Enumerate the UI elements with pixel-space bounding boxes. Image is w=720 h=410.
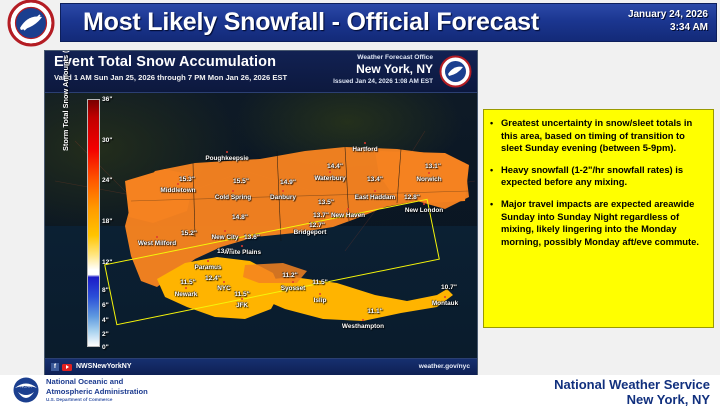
city-label: West Milford xyxy=(138,240,176,247)
city-label: Westhampton xyxy=(342,323,384,330)
key-message-item: •Major travel impacts are expected areaw… xyxy=(490,198,706,248)
colorbar-axis-label: Storm Total Snow Amounts (in) xyxy=(61,50,70,151)
colorbar-tick: 36" xyxy=(102,96,112,103)
noaa-line-1: National Oceanic and xyxy=(46,377,148,387)
snowfall-value-label: 11.2" xyxy=(282,272,298,279)
nws-office-footer: National Weather Service New York, NY xyxy=(554,377,710,407)
colorbar-tick: 2" xyxy=(102,331,109,338)
city-label: Syosset xyxy=(281,285,306,292)
nws-seal-icon xyxy=(2,0,60,47)
nws-seal-icon xyxy=(439,55,472,88)
city-label: JFK xyxy=(236,302,248,309)
snowfall-value-label: 15.2" xyxy=(181,230,197,237)
snowfall-value-label: 11.5" xyxy=(234,291,250,298)
colorbar-legend: Storm Total Snow Amounts (in) 36" 30" 24… xyxy=(65,99,111,347)
city-label: Hartford xyxy=(352,146,377,153)
map-wfo-label: Weather Forecast Office xyxy=(357,54,433,61)
city-label: Newark xyxy=(175,291,198,298)
snowfall-value-label: 10.7" xyxy=(441,284,457,291)
colorbar-tick: 4" xyxy=(102,317,109,324)
snowfall-value-label: 11.5" xyxy=(180,279,196,286)
snowfall-value-label: 12.7" xyxy=(309,222,325,229)
colorbar-tick: 6" xyxy=(102,302,109,309)
header-bar: Most Likely Snowfall - Official Forecast… xyxy=(60,3,717,42)
city-label: Bridgeport xyxy=(294,229,327,236)
city-label: Montauk xyxy=(432,300,458,307)
noaa-agency-name: National Oceanic and Atmospheric Adminis… xyxy=(46,377,148,396)
snowfall-value-label: 13.1" xyxy=(425,163,441,170)
snowfall-value-label: 11.5" xyxy=(312,279,328,286)
colorbar-tick: 0" xyxy=(102,344,109,351)
snowfall-value-label: 15.5" xyxy=(233,178,249,185)
map-issued-time: Issued Jan 24, 2026 1:08 AM EST xyxy=(333,78,433,85)
snowfall-value-label: 13.6" xyxy=(244,234,260,241)
forecast-graphic: Most Likely Snowfall - Official Forecast… xyxy=(0,0,720,407)
city-label: Paramus xyxy=(195,264,222,271)
snowfall-value-label: 14.8" xyxy=(232,214,248,221)
snowfall-value-label: 15.3" xyxy=(179,176,195,183)
nws-footer-line-2: New York, NY xyxy=(554,392,710,407)
city-label: Cold Spring xyxy=(215,194,251,201)
page-footer: NOAA National Oceanic and Atmospheric Ad… xyxy=(0,375,720,407)
snowfall-value-label: 13.4" xyxy=(367,176,383,183)
noaa-department: U.S. Department of Commerce xyxy=(46,397,112,402)
city-label: NYC xyxy=(217,285,231,292)
facebook-icon[interactable]: f xyxy=(51,363,59,371)
snowfall-value-label: 14.4" xyxy=(327,163,343,170)
colorbar-gradient xyxy=(87,99,100,347)
city-label: Poughkeepsie xyxy=(205,155,248,162)
key-message-text: Greatest uncertainty in snow/sleet total… xyxy=(501,117,706,155)
header-time: 3:34 AM xyxy=(628,21,708,34)
map-office-name: New York, NY xyxy=(356,62,433,76)
city-label: Middletown xyxy=(160,187,195,194)
snowfall-value-label: 14.9" xyxy=(280,179,296,186)
nws-footer-line-1: National Weather Service xyxy=(554,377,710,392)
snowfall-value-label: 11.1" xyxy=(367,308,383,315)
header-timestamp: January 24, 2026 3:34 AM xyxy=(628,8,708,34)
key-message-text: Major travel impacts are expected areawi… xyxy=(501,198,706,248)
bullet-marker-icon: • xyxy=(490,117,501,155)
noaa-logo-icon: NOAA xyxy=(12,377,40,405)
snowfall-value-label: 12.4" xyxy=(205,275,221,282)
social-handle[interactable]: NWSNewYorkNY xyxy=(76,363,132,370)
youtube-icon[interactable] xyxy=(62,364,72,371)
map-banner: Event Total Snow Accumulation Valid 1 AM… xyxy=(45,51,477,93)
colorbar-tick: 8" xyxy=(102,287,109,294)
snowfall-value-label: 13.5" xyxy=(318,199,334,206)
city-label: Danbury xyxy=(270,194,296,201)
key-message-item: •Greatest uncertainty in snow/sleet tota… xyxy=(490,117,706,155)
map-footer-bar: f NWSNewYorkNY weather.gov/nyc xyxy=(45,358,477,375)
bullet-marker-icon: • xyxy=(490,164,501,189)
city-label: East Haddam xyxy=(355,194,396,201)
map-valid-period: Valid 1 AM Sun Jan 25, 2026 through 7 PM… xyxy=(54,73,287,82)
key-message-text: Heavy snowfall (1-2"/hr snowfall rates) … xyxy=(501,164,706,189)
noaa-line-2: Atmospheric Administration xyxy=(46,387,148,397)
colorbar-tick: 30" xyxy=(102,137,112,144)
city-label: New London xyxy=(405,207,443,214)
city-label: New Haven xyxy=(331,212,365,219)
map-url[interactable]: weather.gov/nyc xyxy=(419,363,470,370)
key-messages-panel: •Greatest uncertainty in snow/sleet tota… xyxy=(483,109,714,328)
snowfall-value-label: 13.7" xyxy=(313,212,329,219)
city-label: Islip xyxy=(314,297,327,304)
bullet-marker-icon: • xyxy=(490,198,501,248)
snowfall-value-label: 13.7" xyxy=(217,248,233,255)
city-label: New City xyxy=(212,234,239,241)
colorbar-tick: 18" xyxy=(102,218,112,225)
snowfall-value-label: 12.8" xyxy=(404,194,420,201)
city-label: Norwich xyxy=(416,176,441,183)
map-banner-title: Event Total Snow Accumulation xyxy=(54,54,276,70)
svg-text:NOAA: NOAA xyxy=(20,384,32,389)
colorbar-tick: 24" xyxy=(102,177,112,184)
header-date: January 24, 2026 xyxy=(628,8,708,21)
city-label: Waterbury xyxy=(314,175,345,182)
forecast-map[interactable]: Event Total Snow Accumulation Valid 1 AM… xyxy=(44,50,478,376)
key-message-item: •Heavy snowfall (1-2"/hr snowfall rates)… xyxy=(490,164,706,189)
page-title: Most Likely Snowfall - Official Forecast xyxy=(83,8,539,37)
